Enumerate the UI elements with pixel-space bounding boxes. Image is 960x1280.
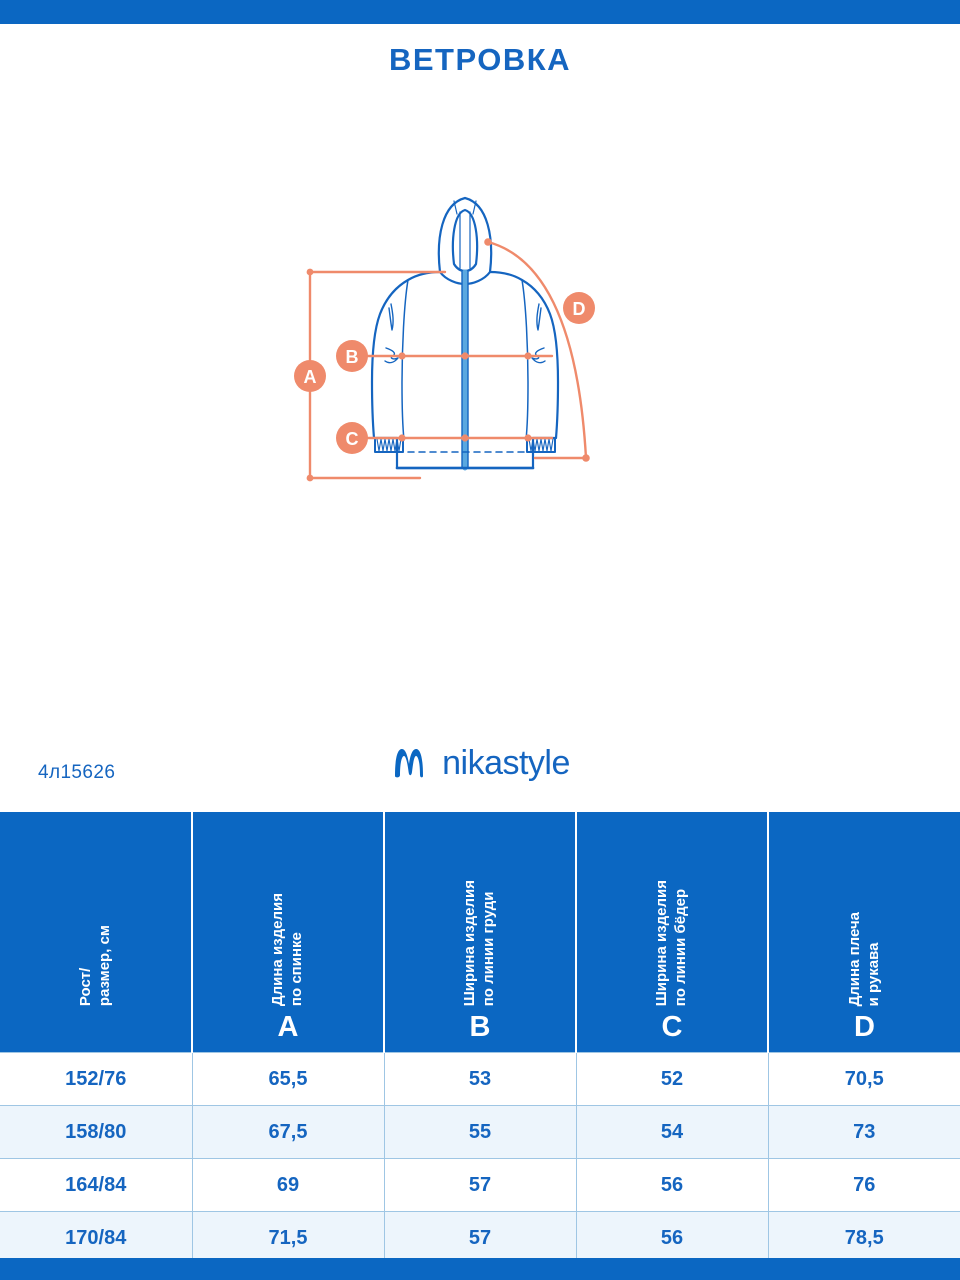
header-label-c: Ширина изделия по линии бёдер (653, 880, 691, 1006)
header-letter-d: D (854, 1010, 875, 1044)
dot-b-left-icon (398, 352, 405, 359)
dot-c-right-icon (524, 434, 531, 441)
cell-b: 57 (384, 1212, 576, 1265)
guide-d-curve-icon (488, 242, 586, 458)
dot-b-right-icon (524, 352, 531, 359)
cuff-left-icon (375, 438, 403, 452)
header-cell-d: Длина плеча и рукава D (768, 812, 960, 1053)
cell-a: 67,5 (192, 1106, 384, 1159)
cell-size: 158/80 (0, 1106, 192, 1159)
page-title: ВЕТРОВКА (0, 42, 960, 78)
cell-c: 56 (576, 1159, 768, 1212)
header-letter-b: B (470, 1010, 491, 1044)
header-label-a: Длина изделия по спинке (269, 893, 307, 1006)
cell-size: 164/84 (0, 1159, 192, 1212)
header-letter-c: C (662, 1010, 683, 1044)
cell-b: 57 (384, 1159, 576, 1212)
chest-detail-right-icon (537, 304, 541, 330)
bottom-brand-bar (0, 1258, 960, 1280)
jacket-outline-group (372, 198, 558, 468)
dot-b-center-icon (461, 352, 468, 359)
cell-d: 73 (768, 1106, 960, 1159)
table-row: 170/84 71,5 57 56 78,5 (0, 1212, 960, 1265)
cell-c: 54 (576, 1106, 768, 1159)
marker-badge-d: D (563, 292, 595, 324)
nikastyle-mark-path (395, 749, 423, 777)
cell-d: 76 (768, 1159, 960, 1212)
dot-d-top-icon (484, 238, 492, 246)
header-cell-c: Ширина изделия по линии бёдер C (576, 812, 768, 1053)
table-row: 158/80 67,5 55 54 73 (0, 1106, 960, 1159)
marker-badge-b: B (336, 340, 368, 372)
sleeve-right-seam-icon (522, 280, 528, 440)
cell-c: 52 (576, 1053, 768, 1106)
dot-c-center-icon (461, 434, 468, 441)
table-row: 152/76 65,5 53 52 70,5 (0, 1053, 960, 1106)
size-table: Рост/ размер, см Длина изделия по спинке… (0, 812, 960, 1264)
size-table-head: Рост/ размер, см Длина изделия по спинке… (0, 812, 960, 1053)
cell-b: 53 (384, 1053, 576, 1106)
cell-size: 170/84 (0, 1212, 192, 1265)
marker-badge-a: A (294, 360, 326, 392)
header-label-size: Рост/ размер, см (77, 925, 115, 1006)
cell-b: 55 (384, 1106, 576, 1159)
jacket-diagram-svg: A B C D (290, 168, 640, 508)
sleeve-left-seam-icon (402, 280, 408, 440)
nikastyle-mark-icon (390, 742, 432, 784)
header-label-d: Длина плеча и рукава (846, 912, 884, 1006)
size-table-body: 152/76 65,5 53 52 70,5 158/80 67,5 55 54… (0, 1053, 960, 1265)
dot-c-left-icon (398, 434, 405, 441)
marker-b-label: B (346, 347, 359, 367)
dot-d-bottom-icon (582, 454, 590, 462)
cell-size: 152/76 (0, 1053, 192, 1106)
header-cell-size: Рост/ размер, см (0, 812, 192, 1053)
table-header-row: Рост/ размер, см Длина изделия по спинке… (0, 812, 960, 1053)
hood-inner-icon (453, 210, 477, 271)
dot-a-top-icon (307, 269, 314, 276)
top-brand-bar (0, 0, 960, 24)
header-letter-a: A (278, 1010, 299, 1044)
header-cell-a: Длина изделия по спинке A (192, 812, 384, 1053)
chest-detail-left-icon (389, 304, 393, 330)
dot-a-bottom-icon (307, 475, 314, 482)
brand-logo: nikastyle (0, 736, 960, 790)
jacket-measurement-illustration: A B C D (290, 168, 640, 508)
cell-d: 70,5 (768, 1053, 960, 1106)
cell-a: 69 (192, 1159, 384, 1212)
cell-a: 65,5 (192, 1053, 384, 1106)
cell-a: 71,5 (192, 1212, 384, 1265)
cuff-right-icon (527, 438, 555, 452)
brand-name: nikastyle (442, 744, 570, 783)
marker-a-label: A (304, 367, 317, 387)
header-cell-b: Ширина изделия по линии груди B (384, 812, 576, 1053)
marker-badge-c: C (336, 422, 368, 454)
marker-c-label: C (346, 429, 359, 449)
header-label-b: Ширина изделия по линии груди (461, 880, 499, 1006)
cell-c: 56 (576, 1212, 768, 1265)
table-row: 164/84 69 57 56 76 (0, 1159, 960, 1212)
cell-d: 78,5 (768, 1212, 960, 1265)
marker-d-label: D (573, 299, 586, 319)
